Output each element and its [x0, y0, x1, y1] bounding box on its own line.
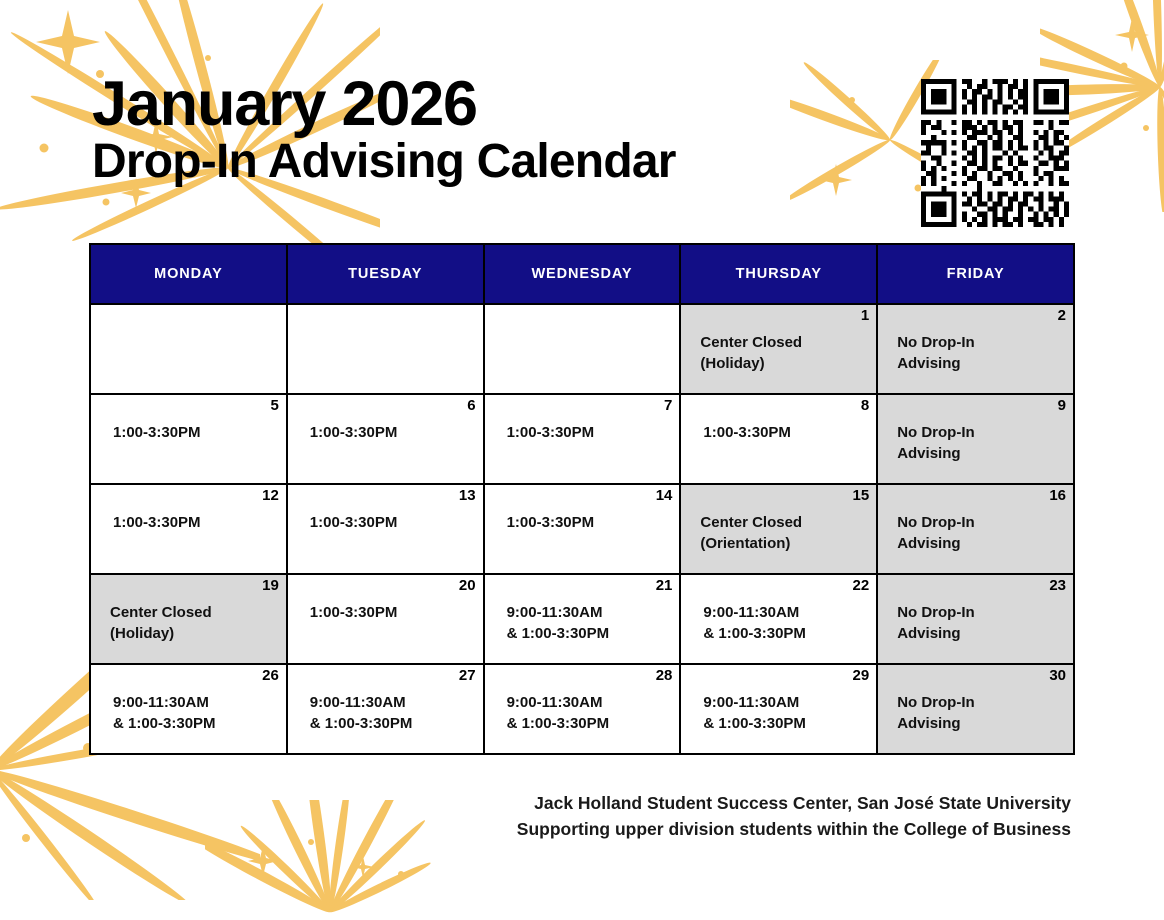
- calendar-week-row: 1Center Closed(Holiday)2No Drop-InAdvisi…: [90, 304, 1074, 394]
- day-detail: No Drop-InAdvising: [878, 395, 1073, 465]
- calendar-day-16[interactable]: 16No Drop-InAdvising: [877, 484, 1074, 574]
- day-number: 13: [459, 488, 476, 503]
- day-detail: 1:00-3:30PM: [485, 485, 680, 533]
- day-detail-line: 1:00-3:30PM: [310, 602, 483, 623]
- day-detail-line: (Orientation): [700, 533, 876, 554]
- day-detail-line: 1:00-3:30PM: [310, 512, 483, 533]
- calendar-day-8[interactable]: 81:00-3:30PM: [680, 394, 877, 484]
- day-detail: 1:00-3:30PM: [288, 575, 483, 623]
- day-detail-line: No Drop-In: [897, 602, 1073, 623]
- day-number: 23: [1049, 578, 1066, 593]
- calendar-day-27[interactable]: 279:00-11:30AM& 1:00-3:30PM: [287, 664, 484, 754]
- day-detail-line: No Drop-In: [897, 332, 1073, 353]
- day-detail-line: 1:00-3:30PM: [113, 512, 286, 533]
- day-detail-line: 1:00-3:30PM: [703, 422, 876, 443]
- day-number: 22: [853, 578, 870, 593]
- day-detail: 1:00-3:30PM: [91, 485, 286, 533]
- day-detail: No Drop-InAdvising: [878, 305, 1073, 375]
- day-detail-line: Center Closed: [700, 332, 876, 353]
- title-month-year: January 2026: [92, 72, 676, 137]
- day-detail-line: 9:00-11:30AM: [703, 602, 876, 623]
- day-detail: 1:00-3:30PM: [485, 395, 680, 443]
- day-detail-line: No Drop-In: [897, 692, 1073, 713]
- page-title: January 2026 Drop-In Advising Calendar: [92, 72, 676, 188]
- footer-line-2: Supporting upper division students withi…: [0, 817, 1075, 843]
- calendar-week-row: 121:00-3:30PM131:00-3:30PM141:00-3:30PM1…: [90, 484, 1074, 574]
- day-detail: No Drop-InAdvising: [878, 485, 1073, 555]
- day-detail-line: 9:00-11:30AM: [703, 692, 876, 713]
- day-detail-line: Advising: [897, 443, 1073, 464]
- calendar-day-26[interactable]: 269:00-11:30AM& 1:00-3:30PM: [90, 664, 287, 754]
- day-detail: 9:00-11:30AM& 1:00-3:30PM: [681, 665, 876, 735]
- calendar-week-row: 51:00-3:30PM61:00-3:30PM71:00-3:30PM81:0…: [90, 394, 1074, 484]
- calendar-day-19[interactable]: 19Center Closed(Holiday): [90, 574, 287, 664]
- day-detail: 9:00-11:30AM& 1:00-3:30PM: [91, 665, 286, 735]
- footer: Jack Holland Student Success Center, San…: [0, 791, 1075, 842]
- calendar-day-28[interactable]: 289:00-11:30AM& 1:00-3:30PM: [484, 664, 681, 754]
- day-detail: Center Closed(Orientation): [681, 485, 876, 555]
- day-detail-line: & 1:00-3:30PM: [703, 623, 876, 644]
- day-detail-line: Advising: [897, 623, 1073, 644]
- day-detail-line: Center Closed: [110, 602, 286, 623]
- qr-code[interactable]: [921, 79, 1069, 227]
- calendar-day-23[interactable]: 23No Drop-InAdvising: [877, 574, 1074, 664]
- day-number: 26: [262, 668, 279, 683]
- day-detail: 1:00-3:30PM: [288, 485, 483, 533]
- day-detail-line: Advising: [897, 533, 1073, 554]
- calendar-day-2[interactable]: 2No Drop-InAdvising: [877, 304, 1074, 394]
- day-detail-line: 9:00-11:30AM: [507, 692, 680, 713]
- day-number: 20: [459, 578, 476, 593]
- day-detail-line: & 1:00-3:30PM: [507, 713, 680, 734]
- calendar-day-20[interactable]: 201:00-3:30PM: [287, 574, 484, 664]
- calendar-header-row: MONDAYTUESDAYWEDNESDAYTHURSDAYFRIDAY: [90, 244, 1074, 304]
- day-detail-line: 1:00-3:30PM: [113, 422, 286, 443]
- day-detail: 1:00-3:30PM: [288, 395, 483, 443]
- day-number: 1: [861, 308, 869, 323]
- day-detail-line: (Holiday): [700, 353, 876, 374]
- weekday-header-friday: FRIDAY: [877, 244, 1074, 304]
- day-number: 14: [656, 488, 673, 503]
- day-detail-line: 1:00-3:30PM: [507, 512, 680, 533]
- calendar-day-14[interactable]: 141:00-3:30PM: [484, 484, 681, 574]
- day-number: 8: [861, 398, 869, 413]
- header-area: January 2026 Drop-In Advising Calendar: [0, 0, 1164, 238]
- day-number: 12: [262, 488, 279, 503]
- day-detail-line: Center Closed: [700, 512, 876, 533]
- day-detail-line: 9:00-11:30AM: [507, 602, 680, 623]
- day-detail-line: 1:00-3:30PM: [310, 422, 483, 443]
- day-detail: 9:00-11:30AM& 1:00-3:30PM: [485, 575, 680, 645]
- weekday-header-thursday: THURSDAY: [680, 244, 877, 304]
- day-detail: 9:00-11:30AM& 1:00-3:30PM: [681, 575, 876, 645]
- day-number: 27: [459, 668, 476, 683]
- calendar-day-15[interactable]: 15Center Closed(Orientation): [680, 484, 877, 574]
- day-detail-line: & 1:00-3:30PM: [113, 713, 286, 734]
- day-detail-line: & 1:00-3:30PM: [703, 713, 876, 734]
- calendar-day-21[interactable]: 219:00-11:30AM& 1:00-3:30PM: [484, 574, 681, 664]
- day-detail-line: 9:00-11:30AM: [310, 692, 483, 713]
- calendar-day-12[interactable]: 121:00-3:30PM: [90, 484, 287, 574]
- title-subtitle: Drop-In Advising Calendar: [92, 137, 676, 188]
- day-number: 15: [853, 488, 870, 503]
- day-detail-line: No Drop-In: [897, 512, 1073, 533]
- calendar-week-row: 269:00-11:30AM& 1:00-3:30PM279:00-11:30A…: [90, 664, 1074, 754]
- calendar-day-9[interactable]: 9No Drop-InAdvising: [877, 394, 1074, 484]
- day-number: 19: [262, 578, 279, 593]
- calendar-day-5[interactable]: 51:00-3:30PM: [90, 394, 287, 484]
- day-detail-line: (Holiday): [110, 623, 286, 644]
- calendar-week-row: 19Center Closed(Holiday)201:00-3:30PM219…: [90, 574, 1074, 664]
- calendar-day-7[interactable]: 71:00-3:30PM: [484, 394, 681, 484]
- day-number: 16: [1049, 488, 1066, 503]
- day-number: 28: [656, 668, 673, 683]
- day-number: 5: [270, 398, 278, 413]
- weekday-header-monday: MONDAY: [90, 244, 287, 304]
- calendar-day-29[interactable]: 299:00-11:30AM& 1:00-3:30PM: [680, 664, 877, 754]
- day-number: 21: [656, 578, 673, 593]
- day-number: 2: [1058, 308, 1066, 323]
- calendar-day-13[interactable]: 131:00-3:30PM: [287, 484, 484, 574]
- day-number: 6: [467, 398, 475, 413]
- advising-calendar: MONDAYTUESDAYWEDNESDAYTHURSDAYFRIDAY 1Ce…: [89, 243, 1075, 755]
- calendar-day-30[interactable]: 30No Drop-InAdvising: [877, 664, 1074, 754]
- calendar-cell-empty: [287, 304, 484, 394]
- day-detail-line: 9:00-11:30AM: [113, 692, 286, 713]
- calendar-cell-empty: [90, 304, 287, 394]
- day-detail: No Drop-InAdvising: [878, 665, 1073, 735]
- footer-line-1: Jack Holland Student Success Center, San…: [0, 791, 1075, 817]
- day-number: 9: [1058, 398, 1066, 413]
- day-detail-line: & 1:00-3:30PM: [507, 623, 680, 644]
- day-detail: 1:00-3:30PM: [91, 395, 286, 443]
- day-number: 7: [664, 398, 672, 413]
- day-detail-line: Advising: [897, 353, 1073, 374]
- day-detail: 1:00-3:30PM: [681, 395, 876, 443]
- day-detail-line: & 1:00-3:30PM: [310, 713, 483, 734]
- day-number: 30: [1049, 668, 1066, 683]
- day-detail-line: No Drop-In: [897, 422, 1073, 443]
- calendar-day-6[interactable]: 61:00-3:30PM: [287, 394, 484, 484]
- day-detail: 9:00-11:30AM& 1:00-3:30PM: [288, 665, 483, 735]
- day-number: 29: [853, 668, 870, 683]
- day-detail-line: 1:00-3:30PM: [507, 422, 680, 443]
- calendar-day-1[interactable]: 1Center Closed(Holiday): [680, 304, 877, 394]
- day-detail: Center Closed(Holiday): [681, 305, 876, 375]
- calendar-day-22[interactable]: 229:00-11:30AM& 1:00-3:30PM: [680, 574, 877, 664]
- weekday-header-tuesday: TUESDAY: [287, 244, 484, 304]
- day-detail: Center Closed(Holiday): [91, 575, 286, 645]
- calendar-cell-empty: [484, 304, 681, 394]
- day-detail-line: Advising: [897, 713, 1073, 734]
- day-detail: 9:00-11:30AM& 1:00-3:30PM: [485, 665, 680, 735]
- day-detail: No Drop-InAdvising: [878, 575, 1073, 645]
- weekday-header-wednesday: WEDNESDAY: [484, 244, 681, 304]
